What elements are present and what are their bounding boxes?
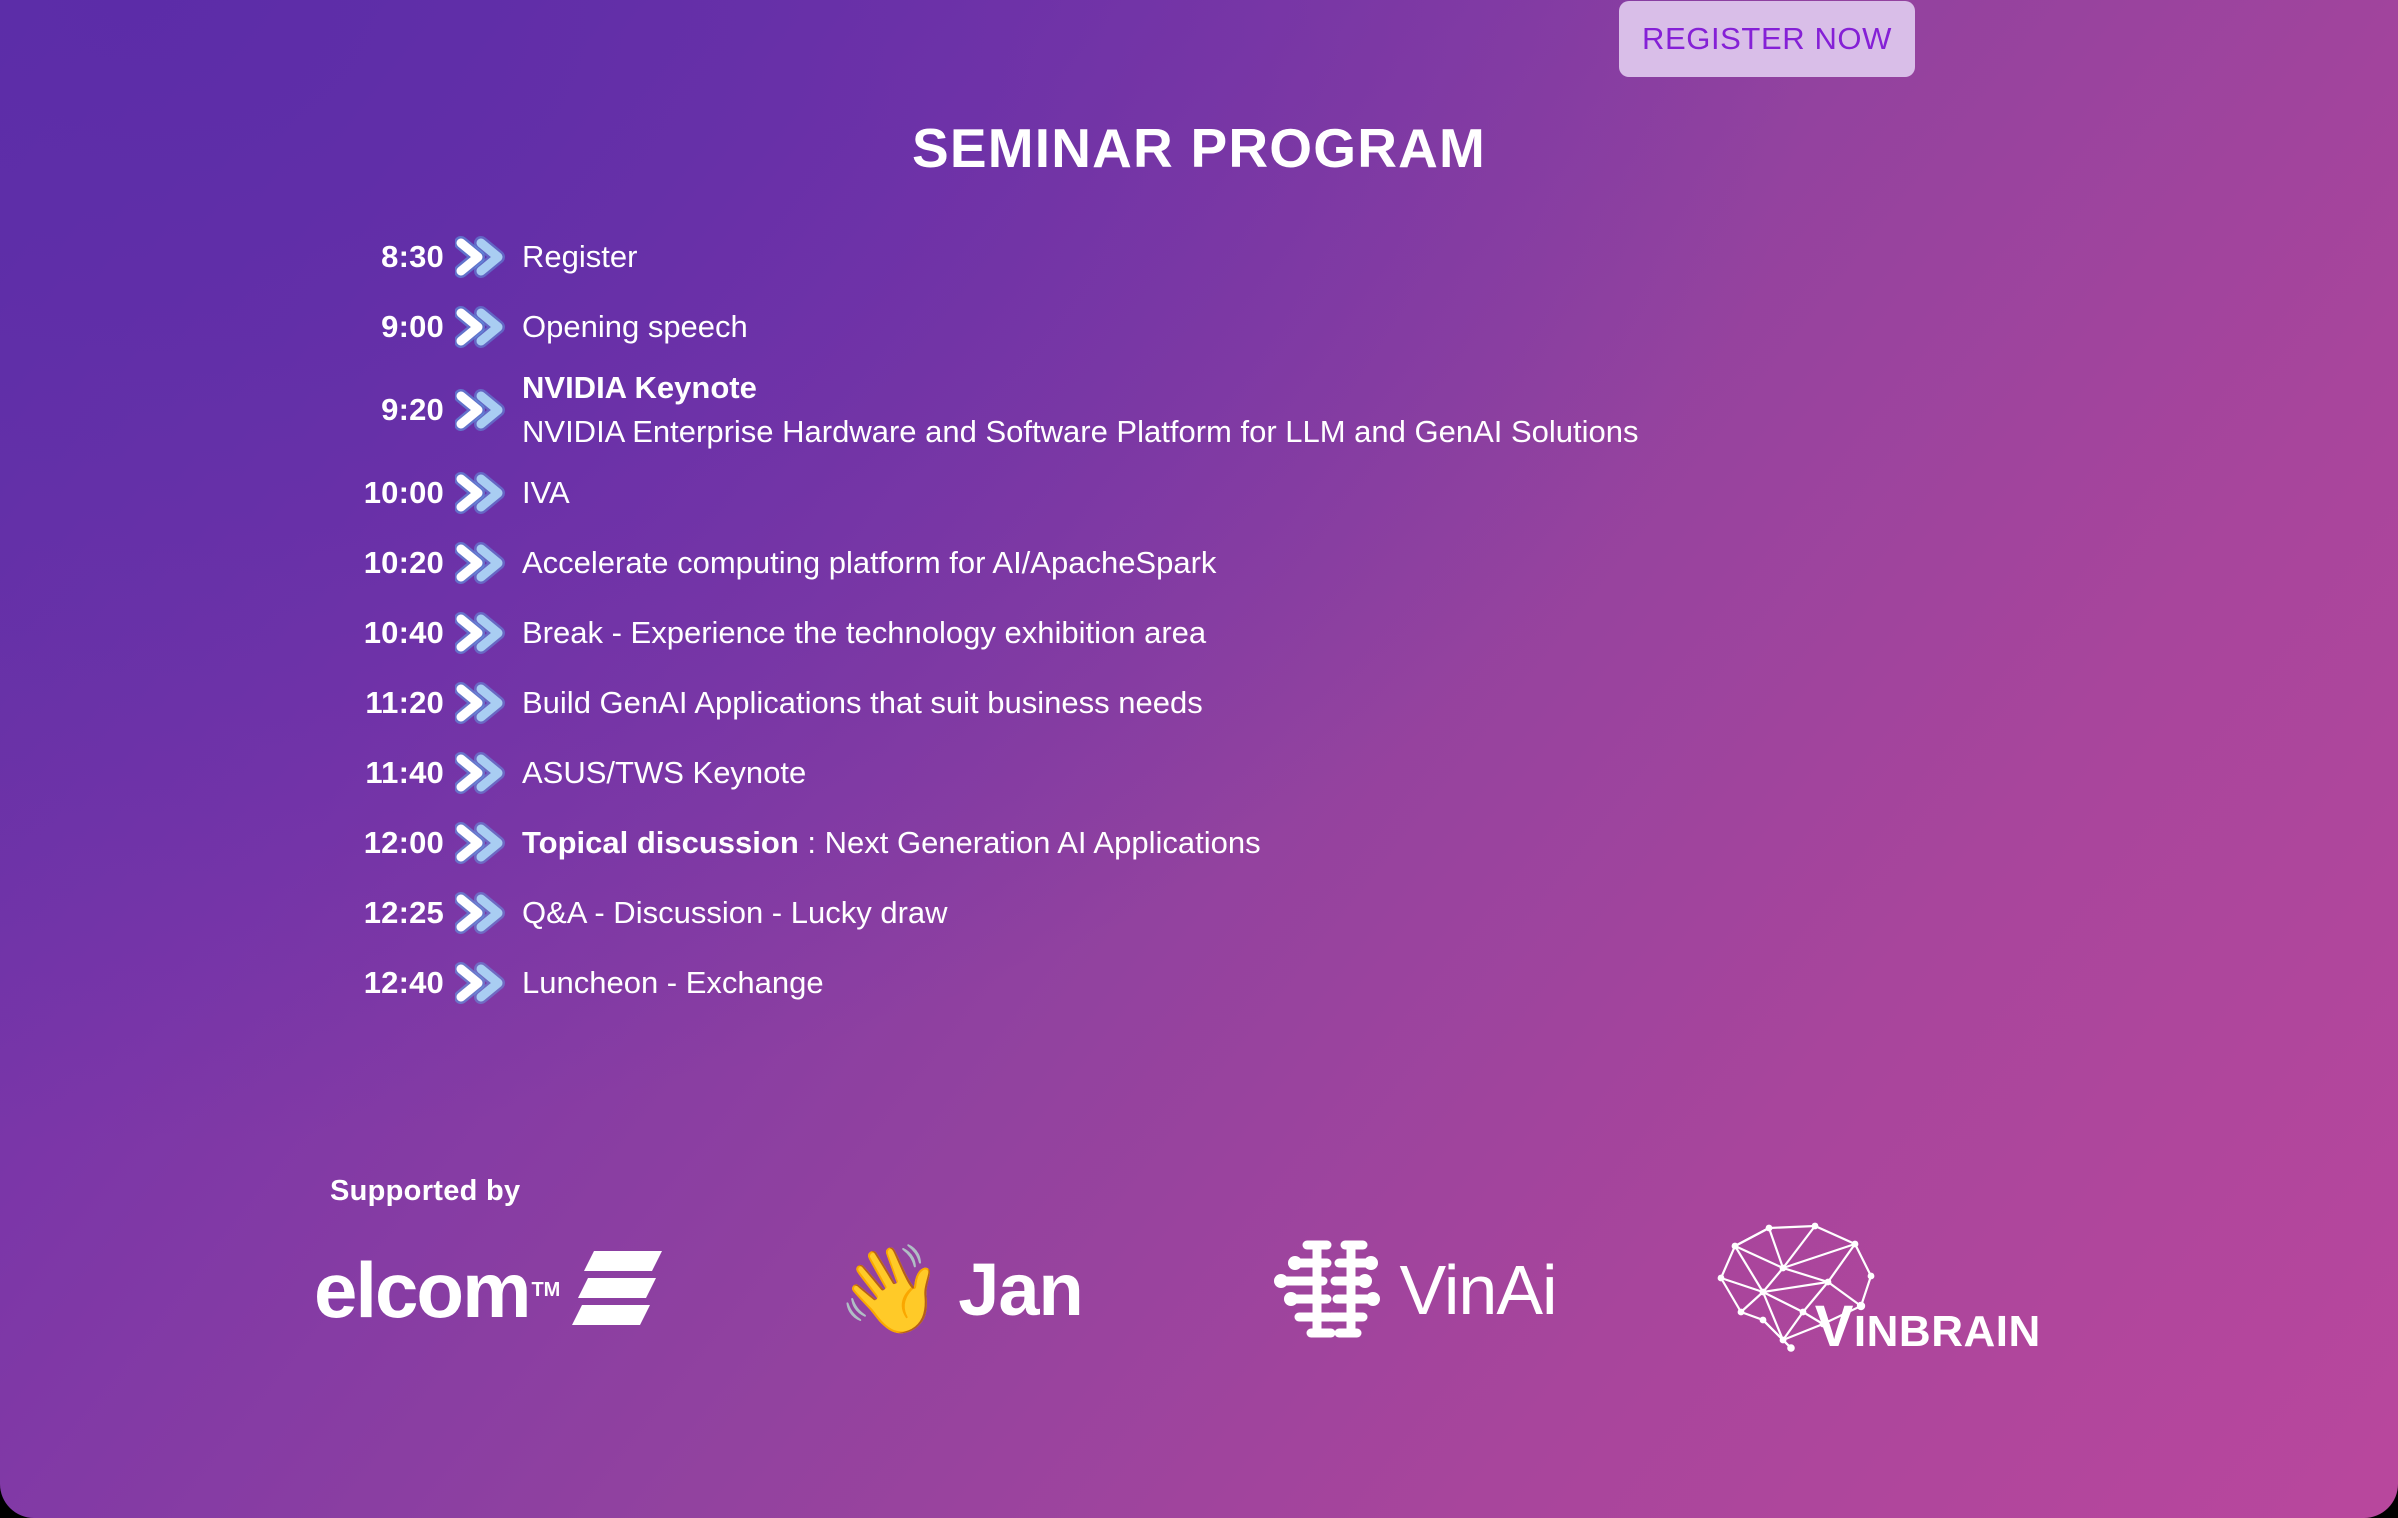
schedule-row: 9:20 NVIDIA Keynote NVIDIA Enterprise Ha… [316,362,1816,458]
schedule-row-text: ASUS/TWS Keynote [522,753,1816,793]
schedule-row-time: 9:00 [316,309,444,345]
vinai-wordmark: VinAi [1399,1255,1556,1325]
schedule-row-time: 12:25 [316,895,444,931]
schedule-row: 12:40 Luncheon - Exchange [316,948,1816,1018]
schedule-row-time: 11:40 [316,755,444,791]
schedule-row-text: Accelerate computing platform for AI/Apa… [522,543,1816,583]
sponsor-logo-jan: 👋 Jan [807,1215,1235,1365]
schedule-row-text: Opening speech [522,307,1816,347]
double-chevron-right-icon [444,386,522,434]
schedule-row-text: Build GenAI Applications that suit busin… [522,683,1816,723]
elcom-wordmark: elcom [314,1251,529,1329]
double-chevron-right-icon [444,819,522,867]
double-chevron-right-icon [444,959,522,1007]
double-chevron-right-icon [444,539,522,587]
waving-hand-icon: 👋 [837,1247,944,1333]
schedule-row: 10:00 IVA [316,458,1816,528]
schedule-row: 11:20 Build GenAI Applications that suit… [316,668,1816,738]
vinbrain-wordmark-rest: INBRAIN [1854,1307,2041,1356]
schedule-row-time: 10:20 [316,545,444,581]
schedule-row-text: Q&A - Discussion - Lucky draw [522,893,1816,933]
page-title: SEMINAR PROGRAM [0,116,2398,180]
vinbrain-wordmark: VINBRAIN [1815,1298,2041,1356]
schedule-row: 11:40 ASUS/TWS Keynote [316,738,1816,808]
schedule-row-title: NVIDIA Keynote [522,368,1816,408]
seminar-program-slide: REGISTER NOW SEMINAR PROGRAM 8:30 Regist… [0,0,2398,1518]
schedule-row-text: NVIDIA Keynote NVIDIA Enterprise Hardwar… [522,368,1816,451]
elcom-emblem-icon [572,1249,664,1332]
jan-wordmark: Jan [958,1253,1083,1327]
double-chevron-right-icon [444,303,522,351]
supported-by-label: Supported by [330,1175,521,1208]
schedule-row-bold-prefix: Topical discussion [522,825,799,860]
double-chevron-right-icon [444,469,522,517]
schedule-row-text: Register [522,237,1816,277]
schedule-row-text: Break - Experience the technology exhibi… [522,613,1816,653]
schedule-row-text: Topical discussion : Next Generation AI … [522,823,1816,863]
schedule-row-time: 10:40 [316,615,444,651]
schedule-row-time: 8:30 [316,239,444,275]
sponsor-logo-strip: elcom TM 👋 Jan [300,1215,2120,1365]
schedule-row: 12:00 Topical discussion : Next Generati… [316,808,1816,878]
sponsor-logo-vinbrain: VINBRAIN [1683,1215,2120,1365]
schedule-row: 12:25 Q&A - Discussion - Lucky draw [316,878,1816,948]
double-chevron-right-icon [444,233,522,281]
schedule-row-time: 12:40 [316,965,444,1001]
double-chevron-right-icon [444,609,522,657]
schedule-row-time: 11:20 [316,685,444,721]
schedule-row: 9:00 Opening speech [316,292,1816,362]
register-now-button[interactable]: REGISTER NOW [1619,1,1915,77]
schedule-row: 8:30 Register [316,222,1816,292]
schedule-row-subtitle: NVIDIA Enterprise Hardware and Software … [522,412,1816,452]
sponsor-logo-vinai: VinAi [1235,1215,1682,1365]
double-chevron-right-icon [444,679,522,727]
schedule-row-text: Luncheon - Exchange [522,963,1816,1003]
vinai-node-emblem-icon [1265,1229,1383,1352]
double-chevron-right-icon [444,749,522,797]
elcom-trademark-symbol: TM [531,1279,560,1302]
schedule-row-time: 12:00 [316,825,444,861]
double-chevron-right-icon [444,889,522,937]
schedule-row: 10:20 Accelerate computing platform for … [316,528,1816,598]
sponsor-logo-elcom: elcom TM [300,1215,807,1365]
schedule-row-rest: : Next Generation AI Applications [799,825,1261,860]
schedule-row: 10:40 Break - Experience the technology … [316,598,1816,668]
schedule-row-text: IVA [522,473,1816,513]
schedule-list: 8:30 Register 9:00 [316,222,1816,1018]
vinbrain-wordmark-cap: V [1815,1294,1854,1359]
schedule-row-time: 10:00 [316,475,444,511]
schedule-row-time: 9:20 [316,392,444,428]
